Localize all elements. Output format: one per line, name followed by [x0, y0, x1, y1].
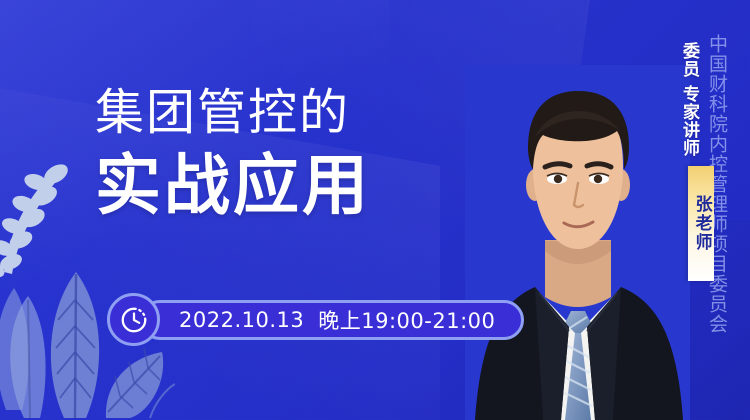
schedule-time: 晚上19:00-21:00: [318, 305, 495, 335]
clock-icon: [119, 305, 149, 335]
speaker-portrait: [465, 65, 690, 420]
schedule-bar: 2022.10.13 晚上19:00-21:00: [107, 293, 524, 346]
title-line-1: 集团管控的: [95, 88, 525, 137]
title-line-2: 实战应用: [95, 153, 525, 219]
clock-badge: [107, 293, 160, 346]
schedule-pill: 2022.10.13 晚上19:00-21:00: [140, 300, 524, 340]
poster-title: 集团管控的 实战应用: [95, 88, 525, 219]
speaker-name-ribbon: 张老师: [688, 166, 714, 281]
webinar-poster: 集团管控的 实战应用 2022.10.13 晚上19:00-21:00: [0, 0, 750, 420]
speaker-roles: 委员 专家讲师: [679, 42, 698, 157]
speaker-name: 张老师: [690, 195, 711, 252]
schedule-date: 2022.10.13: [179, 308, 304, 332]
